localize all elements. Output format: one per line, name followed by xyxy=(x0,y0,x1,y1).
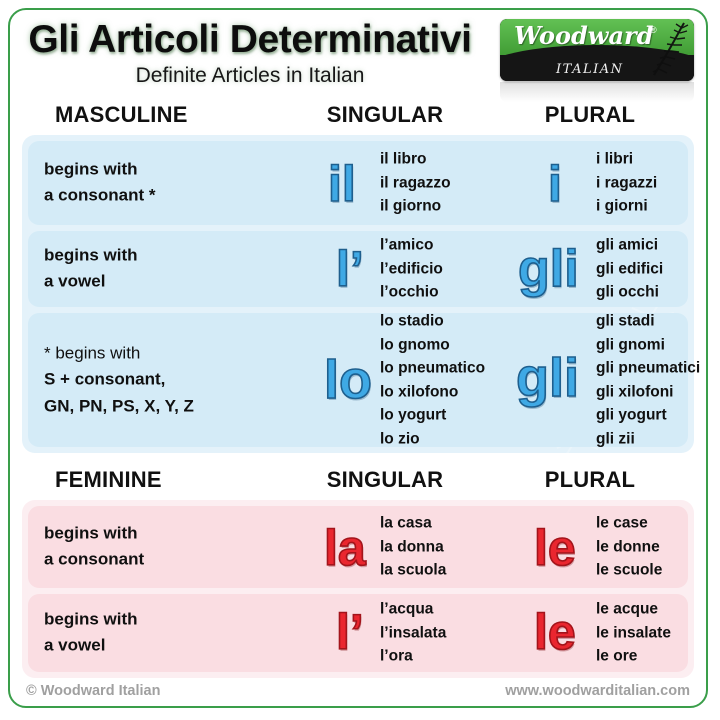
example-item: gli zii xyxy=(596,427,700,451)
masculine-singular-label: SINGULAR xyxy=(300,102,470,128)
example-item: i libri xyxy=(596,148,657,172)
example-item: lo zio xyxy=(380,427,485,451)
feminine-column-headers: FEMININE SINGULAR PLURAL xyxy=(10,467,706,497)
table-row: * begins with S + consonant, GN, PN, PS,… xyxy=(28,313,688,447)
plural-article-gli: gli xyxy=(516,351,579,405)
plural-examples: le case le donne le scuole xyxy=(596,512,662,583)
example-item: gli xilofoni xyxy=(596,380,700,404)
feminine-label: FEMININE xyxy=(55,467,162,493)
plural-examples: gli amici gli edifici gli occhi xyxy=(596,234,663,305)
example-item: lo xilofono xyxy=(380,380,485,404)
plural-article-i: i xyxy=(548,159,562,209)
table-row: begins with a vowel l’ l’acqua l’insalat… xyxy=(28,594,688,672)
rule-line-1: * begins with xyxy=(44,340,294,366)
example-item: gli stadi xyxy=(596,309,700,333)
rule-line-2: a consonant * xyxy=(44,183,294,209)
singular-examples: lo stadio lo gnomo lo pneumatico lo xilo… xyxy=(380,309,485,450)
plural-examples: gli stadi gli gnomi gli pneumatici gli x… xyxy=(596,309,700,450)
singular-article-lo: lo xyxy=(324,353,372,407)
rule-text: begins with a consonant xyxy=(44,521,294,574)
plural-article-le: le xyxy=(534,607,576,657)
woodward-logo[interactable]: Woodward ® ITALIAN xyxy=(500,19,694,81)
logo-reflection xyxy=(500,82,694,102)
example-item: gli occhi xyxy=(596,281,663,305)
feminine-plural-label: PLURAL xyxy=(510,467,670,493)
masculine-column-headers: MASCULINE SINGULAR PLURAL xyxy=(10,102,706,132)
plural-article-le: le xyxy=(534,523,576,573)
example-item: le donne xyxy=(596,535,662,559)
table-row: begins with a vowel l’ l’amico l’edifici… xyxy=(28,231,688,307)
rule-text: * begins with S + consonant, GN, PN, PS,… xyxy=(44,340,294,419)
feminine-table: Woodward ITALIAN begins with a consonant… xyxy=(22,500,694,678)
plural-examples: le acque le insalate le ore xyxy=(596,598,671,669)
singular-article-il: il xyxy=(328,159,356,209)
example-item: le case xyxy=(596,512,662,536)
example-item: la scuola xyxy=(380,559,446,583)
poster-footer: © Woodward Italian www.woodwarditalian.c… xyxy=(10,672,706,706)
example-item: l’ora xyxy=(380,645,446,669)
logo-language-text: ITALIAN xyxy=(556,62,624,77)
rule-line-1: begins with xyxy=(44,607,294,633)
singular-examples: la casa la donna la scuola xyxy=(380,512,446,583)
singular-examples: il libro il ragazzo il giorno xyxy=(380,148,451,219)
example-item: l’insalata xyxy=(380,621,446,645)
example-item: gli pneumatici xyxy=(596,356,700,380)
rule-line-2: a vowel xyxy=(44,633,294,659)
example-item: le insalate xyxy=(596,621,671,645)
example-item: il giorno xyxy=(380,195,451,219)
plural-examples: i libri i ragazzi i giorni xyxy=(596,148,657,219)
logo-brand-text: Woodward xyxy=(514,21,653,50)
example-item: l’occhio xyxy=(380,281,443,305)
fern-icon xyxy=(640,19,692,81)
example-item: il ragazzo xyxy=(380,171,451,195)
example-item: gli edifici xyxy=(596,257,663,281)
poster-header: Gli Articoli Determinativi Definite Arti… xyxy=(10,10,706,102)
rule-line-3: GN, PN, PS, X, Y, Z xyxy=(44,393,294,419)
masculine-table: Woodward ITALIAN begins with a consonant… xyxy=(22,135,694,453)
plural-article-gli: gli xyxy=(518,243,579,295)
example-item: la donna xyxy=(380,535,446,559)
rule-line-1: begins with xyxy=(44,521,294,547)
singular-examples: l’amico l’edificio l’occhio xyxy=(380,234,443,305)
example-item: la casa xyxy=(380,512,446,536)
poster-frame: Gli Articoli Determinativi Definite Arti… xyxy=(8,8,708,708)
example-item: gli amici xyxy=(596,234,663,258)
example-item: le acque xyxy=(596,598,671,622)
example-item: gli gnomi xyxy=(596,333,700,357)
singular-article-lapostrophe: l’ xyxy=(336,607,364,657)
rule-text: begins with a vowel xyxy=(44,607,294,660)
website-link[interactable]: www.woodwarditalian.com xyxy=(505,683,690,699)
example-item: l’acqua xyxy=(380,598,446,622)
table-row: begins with a consonant la la casa la do… xyxy=(28,506,688,588)
example-item: gli yogurt xyxy=(596,404,700,428)
singular-article-la: la xyxy=(324,523,366,573)
example-item: le ore xyxy=(596,645,671,669)
example-item: lo stadio xyxy=(380,309,485,333)
example-item: lo pneumatico xyxy=(380,356,485,380)
masculine-plural-label: PLURAL xyxy=(510,102,670,128)
example-item: lo gnomo xyxy=(380,333,485,357)
rule-line-2: a vowel xyxy=(44,269,294,295)
rule-line-1: begins with xyxy=(44,157,294,183)
masculine-label: MASCULINE xyxy=(55,102,188,128)
example-item: lo yogurt xyxy=(380,404,485,428)
copyright-text: © Woodward Italian xyxy=(26,683,160,699)
example-item: i ragazzi xyxy=(596,171,657,195)
example-item: i giorni xyxy=(596,195,657,219)
example-item: l’edificio xyxy=(380,257,443,281)
rule-line-2: a consonant xyxy=(44,547,294,573)
table-row: begins with a consonant * il il libro il… xyxy=(28,141,688,225)
feminine-singular-label: SINGULAR xyxy=(300,467,470,493)
page-title: Gli Articoli Determinativi xyxy=(10,18,490,62)
example-item: il libro xyxy=(380,148,451,172)
singular-examples: l’acqua l’insalata l’ora xyxy=(380,598,446,669)
rule-line-2: S + consonant, xyxy=(44,367,294,393)
page-subtitle: Definite Articles in Italian xyxy=(10,64,490,88)
rule-text: begins with a vowel xyxy=(44,243,294,296)
example-item: le scuole xyxy=(596,559,662,583)
example-item: l’amico xyxy=(380,234,443,258)
singular-article-lapostrophe: l’ xyxy=(336,244,364,294)
rule-text: begins with a consonant * xyxy=(44,157,294,210)
rule-line-1: begins with xyxy=(44,243,294,269)
